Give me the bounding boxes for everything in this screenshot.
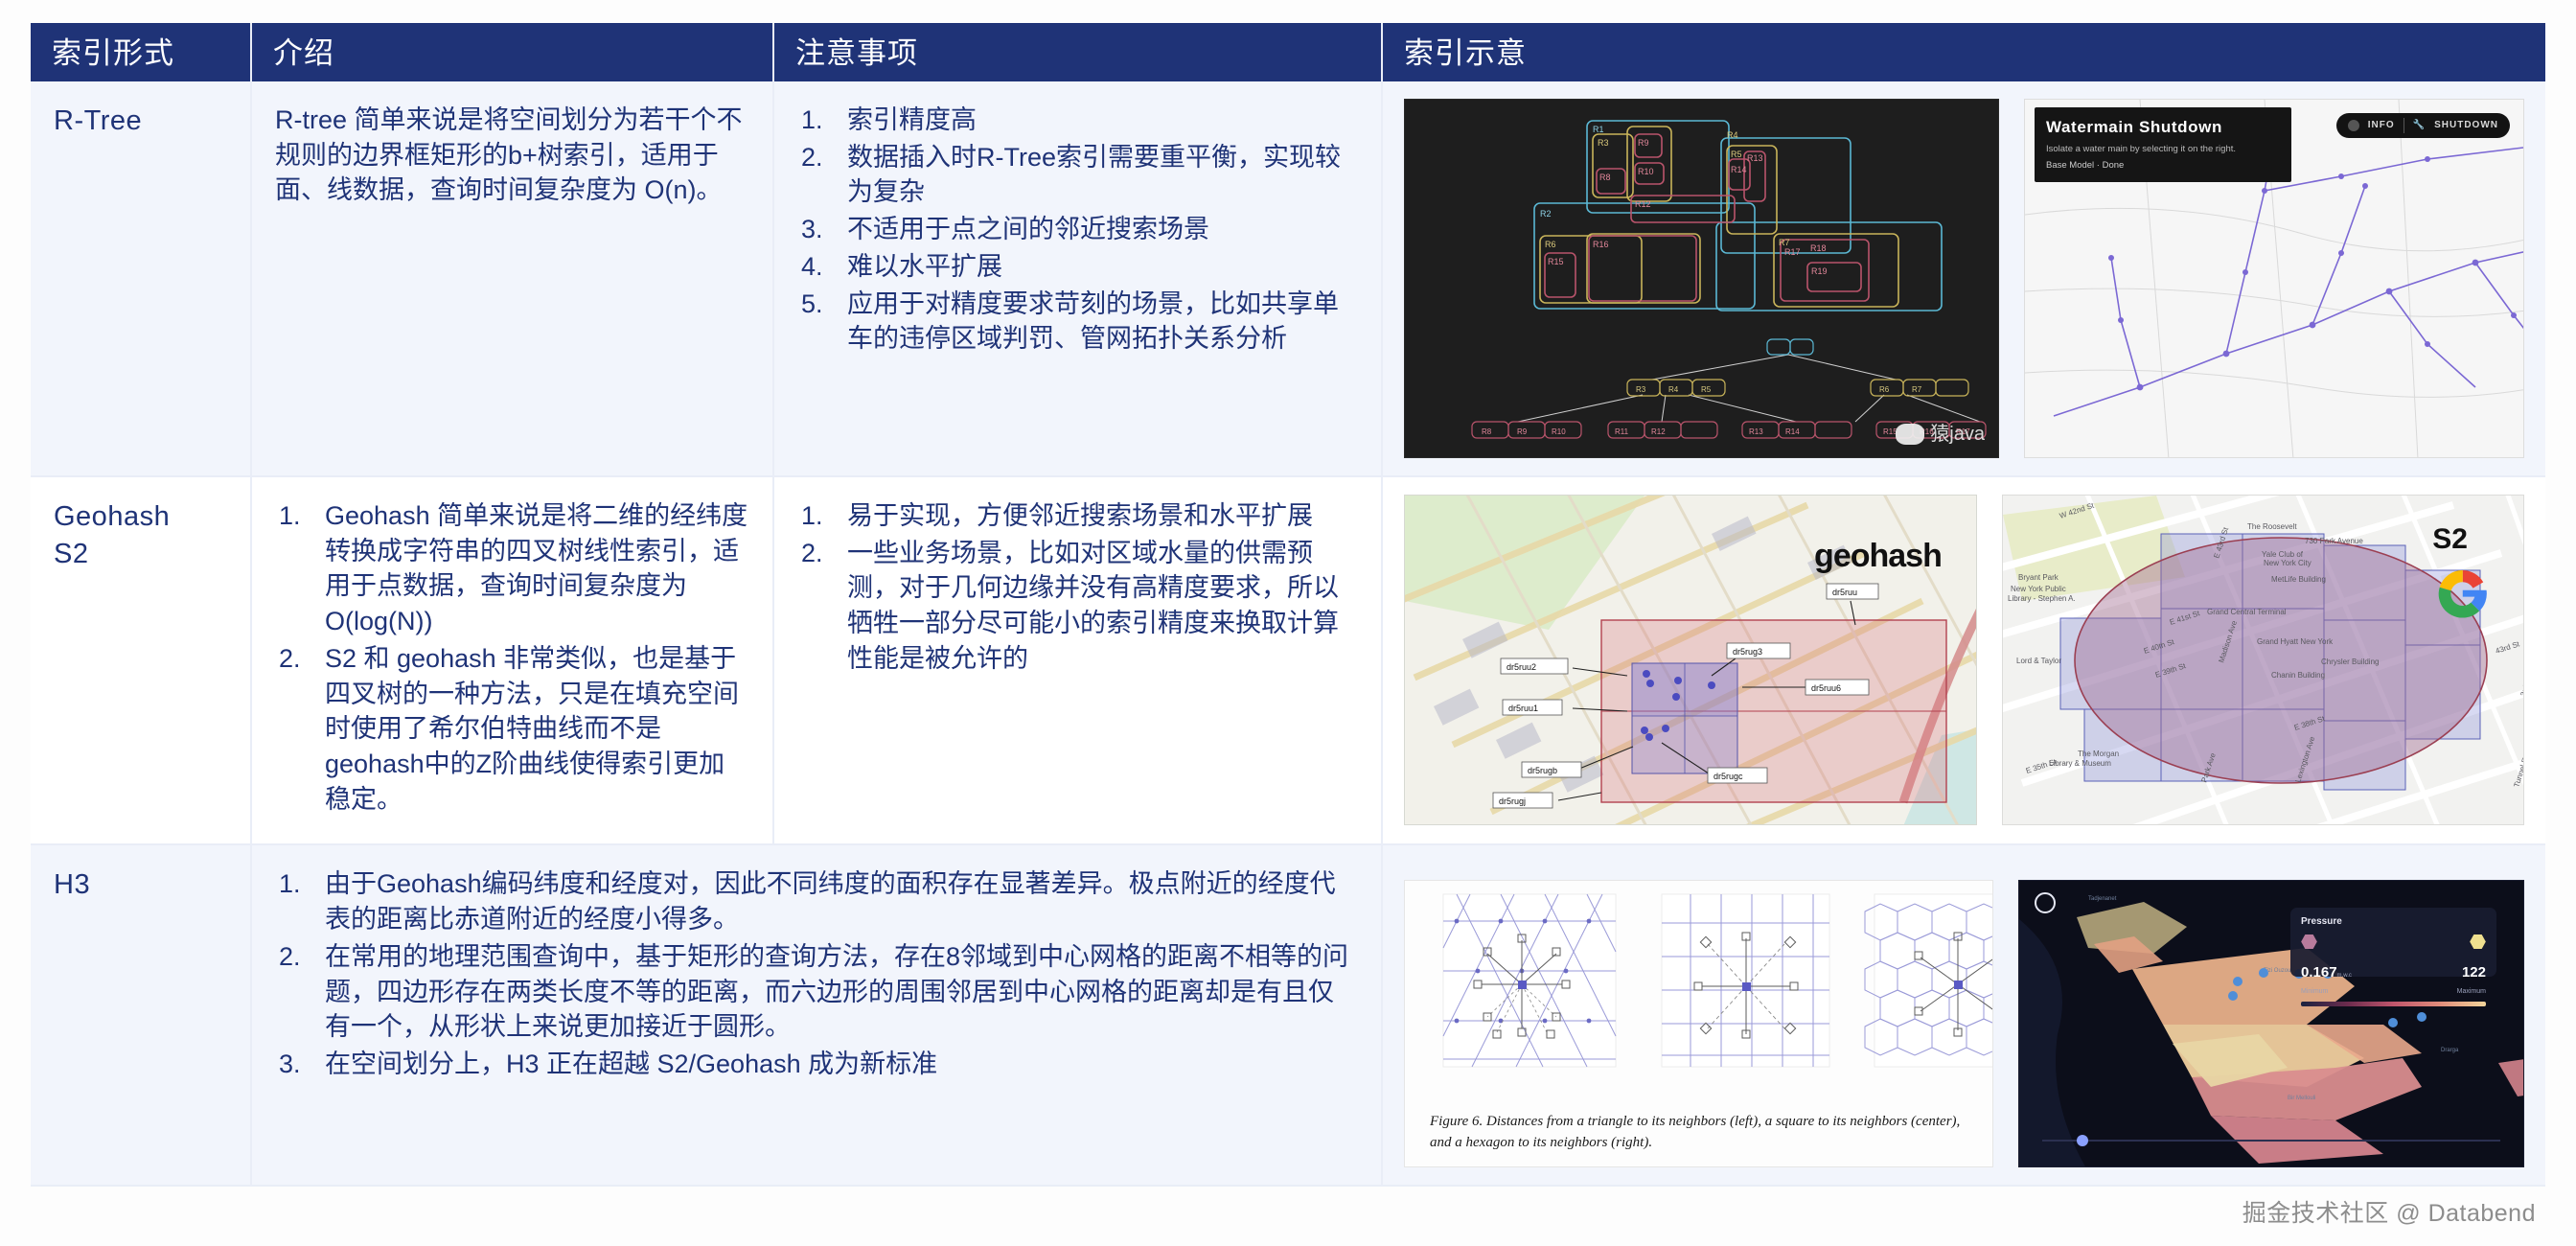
watermark-yuanjava: 猿java xyxy=(1896,422,1985,448)
svg-text:dr5ruu2: dr5ruu2 xyxy=(1506,662,1536,672)
list-item: 由于Geohash编码纬度和经度对，因此不同纬度的面积存在显著差异。极点附近的经… xyxy=(275,866,1358,936)
list-item: 在常用的地理范围查询中，基于矩形的查询方法，存在8邻域到中心网格的距离不相等的问… xyxy=(275,939,1358,1045)
row-media-h3: Figure 6. Distances from a triangle to i… xyxy=(1382,844,2545,1186)
pressure-max: 122 Maximum xyxy=(2457,934,2486,996)
column-header-intro: 介绍 xyxy=(251,23,773,81)
svg-text:R14: R14 xyxy=(1785,427,1800,436)
divider xyxy=(2403,118,2404,133)
svg-text:R3: R3 xyxy=(1636,385,1646,394)
svg-text:Library - Stephen A.: Library - Stephen A. xyxy=(2008,594,2076,603)
svg-text:R9: R9 xyxy=(1638,138,1649,148)
notes-list: 索引精度高 数据插入时R-Tree索引需要重平衡，实现较为复杂 不适用于点之间的… xyxy=(797,103,1358,357)
svg-text:R14: R14 xyxy=(1731,165,1747,174)
row-intro-rtree: R-tree 简单来说是将空间划分为若干个不规则的边界框矩形的b+树索引，适用于… xyxy=(251,81,773,476)
svg-text:R3: R3 xyxy=(1598,138,1609,148)
pressure-panel: Pressure 0.167m.w.c Minimum xyxy=(2290,908,2496,977)
svg-text:Library & Museum: Library & Museum xyxy=(2049,759,2111,768)
pressure-min: 0.167m.w.c Minimum xyxy=(2301,934,2352,996)
svg-text:R6: R6 xyxy=(1545,240,1556,249)
svg-text:R4: R4 xyxy=(1727,130,1738,140)
pressure-min-value: 0.167 xyxy=(2301,964,2337,981)
hexagon-icon xyxy=(2470,934,2486,949)
svg-text:Bir Mellouli: Bir Mellouli xyxy=(2288,1096,2315,1101)
column-header-illustration: 索引示意 xyxy=(1382,23,2545,81)
svg-text:Lord & Taylor: Lord & Taylor xyxy=(2016,657,2061,665)
list-item: 一些业务场景，比如对区域水量的供需预测，对于几何边缘并没有高精度要求，所以牺牲一… xyxy=(797,536,1358,677)
svg-text:MetLife Building: MetLife Building xyxy=(2271,575,2326,584)
svg-text:Chanin Building: Chanin Building xyxy=(2271,671,2325,680)
rtree-diagram-image: R1 R2 R3 R4 R5 R6 R7 R8 R9 R10 xyxy=(1404,99,1999,458)
svg-text:R8: R8 xyxy=(1482,427,1492,436)
shutdown-button-label[interactable]: SHUTDOWN xyxy=(2434,119,2498,132)
svg-text:R18: R18 xyxy=(1810,243,1827,253)
svg-text:dr5rugc: dr5rugc xyxy=(1713,772,1743,781)
row-name-rtree: R-Tree xyxy=(31,81,251,476)
svg-text:R6: R6 xyxy=(1879,385,1890,394)
figure-caption: Figure 6. Distances from a triangle to i… xyxy=(1430,1112,1975,1154)
row-media-geohash-s2: dr5ruu dr5ruu2 dr5rug3 dr5ruu6 dr5ruu1 d… xyxy=(1382,476,2545,844)
row-notes-rtree: 索引精度高 数据插入时R-Tree索引需要重平衡，实现较为复杂 不适用于点之间的… xyxy=(773,81,1382,476)
pressure-colorbar xyxy=(2301,1002,2486,1006)
timeline-slider[interactable] xyxy=(2042,1140,2500,1142)
watermark-label: 猿java xyxy=(1930,422,1985,448)
pressure-panel-title: Pressure xyxy=(2301,915,2486,929)
svg-text:Chrysler Building: Chrysler Building xyxy=(2321,658,2379,666)
row-media-rtree: R1 R2 R3 R4 R5 R6 R7 R8 R9 R10 xyxy=(1382,81,2545,476)
slide-page: 索引形式 介绍 注意事项 索引示意 R-Tree R-tree 简单来说是将空间… xyxy=(0,0,2576,1246)
column-header-notes: 注意事项 xyxy=(773,23,1382,81)
svg-text:Tadjenanet: Tadjenanet xyxy=(2088,896,2117,902)
svg-text:R17: R17 xyxy=(1784,247,1801,257)
svg-text:R13: R13 xyxy=(1747,153,1763,163)
list-item: 不适用于点之间的邻近搜索场景 xyxy=(797,212,1358,247)
svg-text:The Roosevelt: The Roosevelt xyxy=(2247,522,2297,531)
list-item: 在空间划分上，H3 正在超越 S2/Geohash 成为新标准 xyxy=(275,1047,1358,1082)
svg-text:dr5rug3: dr5rug3 xyxy=(1733,647,1762,657)
svg-text:R12: R12 xyxy=(1651,427,1666,436)
table-row-geohash-s2: Geohash S2 Geohash 简单来说是将二维的经纬度转换成字符串的四叉… xyxy=(31,476,2545,844)
watermain-info-card: Watermain Shutdown Isolate a water main … xyxy=(2035,107,2291,182)
svg-text:R2: R2 xyxy=(1540,209,1552,219)
watermain-title: Watermain Shutdown xyxy=(2046,116,2280,138)
h3-neighbor-figure-image: Figure 6. Distances from a triangle to i… xyxy=(1404,880,1993,1167)
svg-text:R8: R8 xyxy=(1599,173,1611,182)
row-intro-geohash-s2: Geohash 简单来说是将二维的经纬度转换成字符串的四叉树线性索引，适用于点数… xyxy=(251,476,773,844)
svg-text:R10: R10 xyxy=(1638,167,1654,176)
svg-text:New York Public: New York Public xyxy=(2011,585,2066,593)
pressure-min-label: Minimum xyxy=(2301,987,2352,997)
svg-text:R12: R12 xyxy=(1635,199,1651,209)
intro-list: Geohash 简单来说是将二维的经纬度转换成字符串的四叉树线性索引，适用于点数… xyxy=(275,498,749,817)
watermain-shutdown-image: Watermain Shutdown Isolate a water main … xyxy=(2024,99,2524,458)
svg-text:R16: R16 xyxy=(1593,240,1609,249)
pressure-max-label: Maximum xyxy=(2457,987,2486,997)
watermain-status: Base Model · Done xyxy=(2046,160,2280,173)
svg-text:730 Park Avenue: 730 Park Avenue xyxy=(2305,537,2363,545)
svg-text:R4: R4 xyxy=(1668,385,1679,394)
list-item: Geohash 简单来说是将二维的经纬度转换成字符串的四叉树线性索引，适用于点数… xyxy=(275,498,749,639)
geohash-label: geohash xyxy=(1814,534,1942,578)
svg-text:The Morgan: The Morgan xyxy=(2078,750,2119,758)
table-row-rtree: R-Tree R-tree 简单来说是将空间划分为若干个不规则的边界框矩形的b+… xyxy=(31,81,2545,476)
svg-text:Bryant Park: Bryant Park xyxy=(2018,573,2059,582)
watermain-subtitle: Isolate a water main by selecting it on … xyxy=(2046,144,2280,156)
notes-list: 易于实现，方便邻近搜索场景和水平扩展 一些业务场景，比如对区域水量的供需预测，对… xyxy=(797,498,1358,677)
list-item: 数据插入时R-Tree索引需要重平衡，实现较为复杂 xyxy=(797,140,1358,210)
watermain-mode-toggle[interactable]: INFO 🔧 SHUTDOWN xyxy=(2336,113,2510,138)
wrench-icon: 🔧 xyxy=(2413,119,2426,132)
pressure-unit: m.w.c xyxy=(2337,973,2352,979)
list-item: 难以水平扩展 xyxy=(797,249,1358,285)
pressure-max-value: 122 xyxy=(2462,964,2486,981)
svg-text:New York City: New York City xyxy=(2264,559,2311,567)
table-header-row: 索引形式 介绍 注意事项 索引示意 xyxy=(31,23,2545,81)
hexagon-icon xyxy=(2301,934,2317,949)
column-header-index-form: 索引形式 xyxy=(31,23,251,81)
row-intro-h3: 由于Geohash编码纬度和经度对，因此不同纬度的面积存在显著差异。极点附近的经… xyxy=(251,844,1382,1186)
row-name-h3: H3 xyxy=(31,844,251,1186)
svg-text:R19: R19 xyxy=(1811,266,1828,276)
list-item: S2 和 geohash 非常类似，也是基于四叉树的一种方法，只是在填充空间时使… xyxy=(275,641,749,818)
svg-text:R5: R5 xyxy=(1731,150,1742,159)
index-comparison-table: 索引形式 介绍 注意事项 索引示意 R-Tree R-tree 简单来说是将空间… xyxy=(31,23,2545,1187)
info-icon xyxy=(2348,120,2359,131)
svg-text:R1: R1 xyxy=(1593,125,1604,134)
svg-text:dr5ruu: dr5ruu xyxy=(1832,588,1857,597)
svg-text:Yale Club of: Yale Club of xyxy=(2262,550,2304,559)
list-item: 应用于对精度要求苛刻的场景，比如共享单车的违停区域判罚、管网拓扑关系分析 xyxy=(797,287,1358,357)
s2-map-image: W 42nd St E 43rd St E 41st St E 40th St … xyxy=(2002,495,2524,825)
svg-text:dr5ruu1: dr5ruu1 xyxy=(1508,704,1538,713)
intro-list: 由于Geohash编码纬度和经度对，因此不同纬度的面积存在显著差异。极点附近的经… xyxy=(275,866,1358,1081)
svg-text:dr5rugj: dr5rugj xyxy=(1499,796,1526,806)
list-item: 索引精度高 xyxy=(797,103,1358,138)
svg-text:R15: R15 xyxy=(1548,257,1564,266)
footer-watermark: 掘金技术社区 @ Databend xyxy=(2242,1194,2536,1229)
svg-text:R5: R5 xyxy=(1701,385,1712,394)
svg-text:R11: R11 xyxy=(1615,427,1629,436)
svg-text:Drarga: Drarga xyxy=(2441,1048,2459,1053)
svg-text:R7: R7 xyxy=(1912,385,1922,394)
svg-text:R9: R9 xyxy=(1517,427,1528,436)
s2-label: S2 xyxy=(2432,520,2468,560)
row-notes-geohash-s2: 易于实现，方便邻近搜索场景和水平扩展 一些业务场景，比如对区域水量的供需预测，对… xyxy=(773,476,1382,844)
svg-text:Grand Central Terminal: Grand Central Terminal xyxy=(2207,608,2287,616)
svg-text:dr5rugb: dr5rugb xyxy=(1528,766,1557,775)
row-name-geohash-s2: Geohash S2 xyxy=(31,476,251,844)
svg-text:R10: R10 xyxy=(1552,427,1566,436)
h3-dashboard-image: Tadjenanet Tizi Ouzou Drarga Bir Melloul… xyxy=(2018,880,2524,1167)
svg-text:dr5ruu6: dr5ruu6 xyxy=(1811,683,1841,693)
intro-paragraph: R-tree 简单来说是将空间划分为若干个不规则的边界框矩形的b+树索引，适用于… xyxy=(275,103,749,208)
svg-text:R13: R13 xyxy=(1749,427,1763,436)
info-button-label[interactable]: INFO xyxy=(2368,119,2395,132)
svg-text:R7: R7 xyxy=(1779,238,1790,247)
geohash-map-image: dr5ruu dr5ruu2 dr5rug3 dr5ruu6 dr5ruu1 d… xyxy=(1404,495,1977,825)
rtree-svg: R1 R2 R3 R4 R5 R6 R7 R8 R9 R10 xyxy=(1405,100,1999,458)
wechat-icon xyxy=(1896,424,1924,445)
table-row-h3: H3 由于Geohash编码纬度和经度对，因此不同纬度的面积存在显著差异。极点附… xyxy=(31,844,2545,1186)
list-item: 易于实现，方便邻近搜索场景和水平扩展 xyxy=(797,498,1358,534)
svg-text:Grand Hyatt New York: Grand Hyatt New York xyxy=(2257,637,2334,646)
